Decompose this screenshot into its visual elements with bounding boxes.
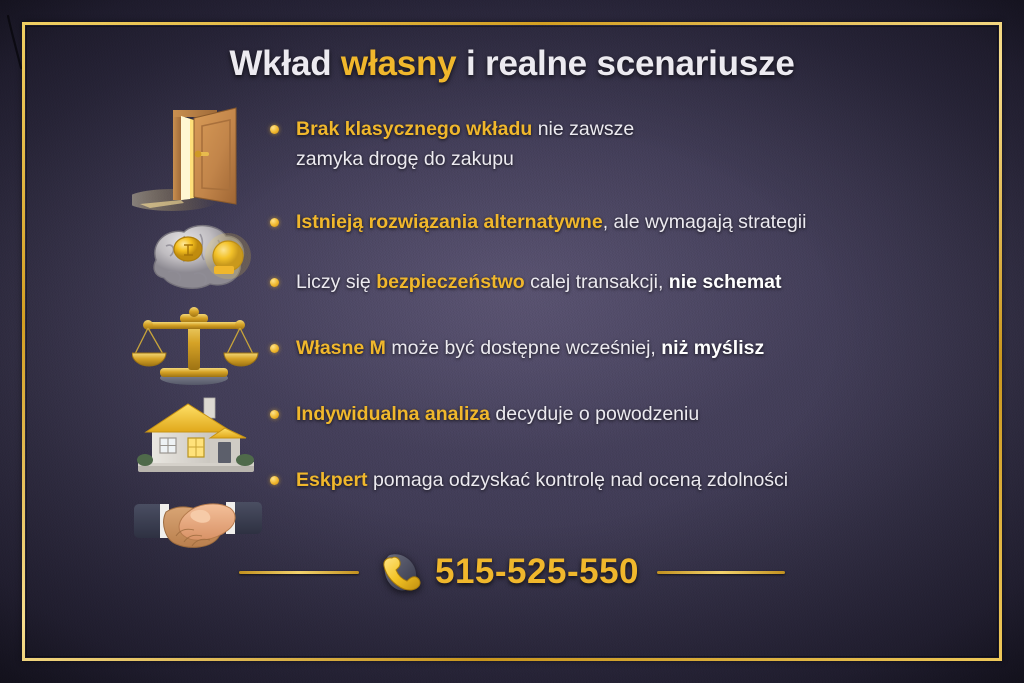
bullet-2-seg-0: Liczy się [296, 271, 376, 293]
bullet-2-seg-1: bezpieczeństwo [376, 271, 524, 293]
icon-slot-door [132, 104, 272, 216]
bullet-0-seg-1: nie zawsze [532, 118, 634, 140]
list-item: Indywidualna analiza decyduje o powodzen… [268, 399, 699, 429]
balance-scales-icon [132, 300, 264, 388]
house-icon [132, 388, 264, 478]
bullet-4-seg-1: decyduje o powodzeniu [490, 403, 699, 425]
title-part-2: i realne scenariusze [456, 44, 794, 83]
icon-slot-brain [132, 216, 272, 300]
contact-strip: 515-525-550 [0, 545, 1024, 599]
list-item: Istnieją rozwiązania alternatywne, ale w… [268, 207, 806, 237]
divider-left [239, 571, 359, 574]
bullet-3-seg-2: niż myślisz [661, 337, 764, 359]
list-item: Liczy się bezpieczeństwo calej transakcj… [268, 267, 782, 297]
list-item: Brak klasycznego wkładu nie zawsze zamyk… [268, 114, 634, 174]
bullet-3-seg-1: może być dostępne wcześniej, [386, 337, 661, 359]
title-part-1: Wkład [229, 44, 341, 83]
telephone-handset-icon[interactable] [377, 549, 423, 595]
bullet-5-seg-1: pomaga odzyskać kontrolę nad oceną zdoln… [368, 469, 789, 491]
poster: Wkład własny i realne scenariusze [0, 0, 1024, 683]
bullet-4-seg-0: Indywidualna analiza [296, 403, 490, 425]
list-item: Eskpert pomaga odzyskać kontrolę nad oce… [268, 465, 788, 495]
bullet-1-seg-1: , ale wymagają strategii [603, 211, 807, 233]
bullet-5-seg-0: Eskpert [296, 469, 368, 491]
bullet-0-seg-0: Brak klasycznego wkładu [296, 118, 532, 140]
page-title: Wkład własny i realne scenariusze [0, 44, 1024, 84]
open-door-icon [132, 104, 264, 216]
phone-number[interactable]: 515-525-550 [435, 552, 639, 592]
icon-slot-scales [132, 300, 272, 388]
brain-with-coins-icon [132, 216, 264, 300]
icon-slot-house [132, 388, 272, 478]
bullet-0-line2: zamyka drogę do zakupu [296, 144, 634, 174]
bullet-2-seg-2: calej transakcji, [525, 271, 669, 293]
title-highlight: własny [341, 44, 457, 83]
bullet-3-seg-0: Własne M [296, 337, 386, 359]
list-item: Własne M może być dostępne wcześniej, ni… [268, 333, 764, 363]
bullet-2-seg-3: nie schemat [669, 271, 782, 293]
icon-column [132, 104, 272, 562]
divider-right [657, 571, 785, 574]
bullet-1-seg-0: Istnieją rozwiązania alternatywne [296, 211, 603, 233]
